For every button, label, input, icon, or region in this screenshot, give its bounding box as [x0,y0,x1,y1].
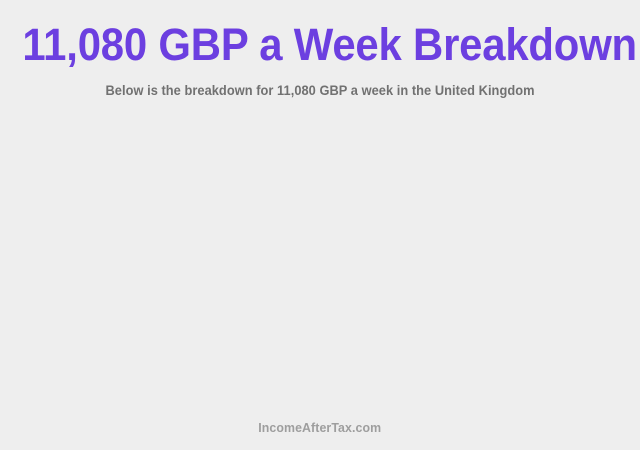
breakdown-region [0,99,640,419]
page-footer: IncomeAfterTax.com [0,419,640,450]
page-title: 11,080 GBP a Week Breakdown [22,19,617,71]
breakdown-page: 11,080 GBP a Week Breakdown Below is the… [0,0,640,450]
main-content [0,99,640,419]
site-watermark: IncomeAfterTax.com [259,420,382,436]
page-subtitle: Below is the breakdown for 11,080 GBP a … [16,82,624,99]
page-header: 11,080 GBP a Week Breakdown Below is the… [0,0,640,99]
